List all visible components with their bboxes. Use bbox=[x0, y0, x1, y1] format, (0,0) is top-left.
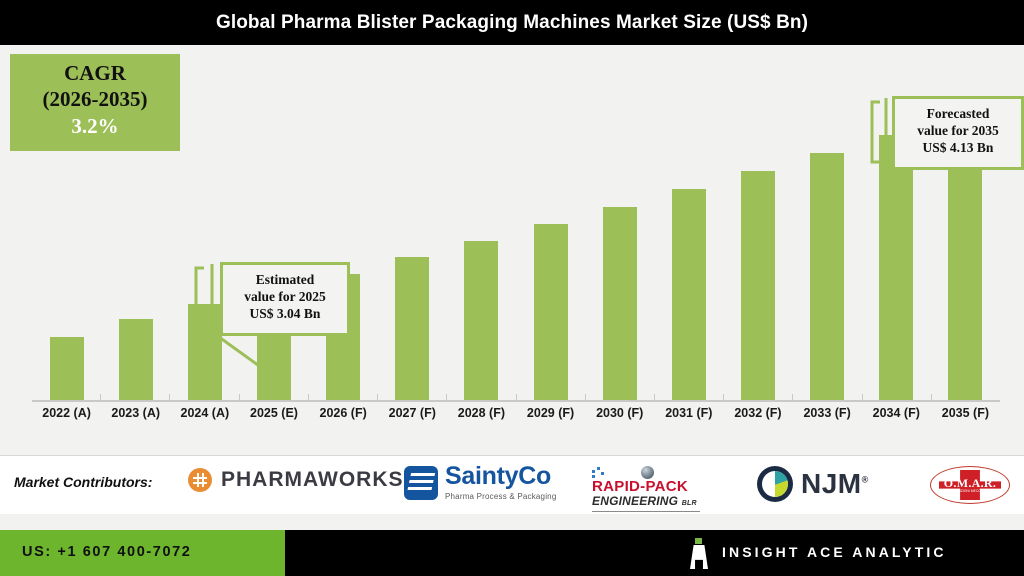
tick bbox=[377, 394, 446, 402]
bar-2023[interactable] bbox=[119, 319, 153, 400]
bar-slot bbox=[516, 54, 585, 400]
tick bbox=[862, 394, 931, 402]
bar-2034[interactable] bbox=[879, 135, 913, 400]
bar-slot bbox=[101, 54, 170, 400]
bar-slot bbox=[793, 54, 862, 400]
logo-omar: O.M.A.R. COSTRUZIONI MECCANICHE bbox=[930, 466, 1010, 504]
bar-2032[interactable] bbox=[741, 171, 775, 400]
callout-forecasted-line3: US$ 4.13 Bn bbox=[903, 139, 1013, 156]
bar-2028[interactable] bbox=[464, 241, 498, 400]
pharmaworks-grid-icon bbox=[188, 468, 212, 492]
x-axis-labels: 2022 (A)2023 (A)2024 (A)2025 (E)2026 (F)… bbox=[32, 406, 1000, 420]
infographic-page: Global Pharma Blister Packaging Machines… bbox=[0, 0, 1024, 576]
contributors-label: Market Contributors: bbox=[14, 474, 152, 490]
omar-subtitle: COSTRUZIONI MECCANICHE bbox=[931, 489, 1009, 493]
x-axis-label: 2031 (F) bbox=[654, 406, 723, 420]
bar-slot bbox=[239, 54, 308, 400]
callout-forecasted-2035: Forecasted value for 2035 US$ 4.13 Bn bbox=[892, 96, 1024, 170]
bar-2027[interactable] bbox=[395, 257, 429, 400]
rapidpack-wordmark: RAPID-PACK bbox=[592, 479, 688, 495]
x-axis-ticks bbox=[32, 394, 1000, 402]
title-bar: Global Pharma Blister Packaging Machines… bbox=[0, 0, 1024, 45]
x-axis-label: 2024 (A) bbox=[170, 406, 239, 420]
plot-area bbox=[32, 54, 1000, 400]
callout-forecasted-line1: Forecasted bbox=[903, 105, 1013, 122]
bar-2024[interactable] bbox=[188, 304, 222, 400]
tick bbox=[446, 394, 515, 402]
tick bbox=[931, 394, 1000, 402]
rapidpack-rule bbox=[592, 511, 700, 512]
bar-slot bbox=[32, 54, 101, 400]
bar-slot bbox=[585, 54, 654, 400]
pharmaworks-name: PHARMAWORKS bbox=[221, 468, 404, 491]
tick bbox=[100, 394, 169, 402]
saintyco-swirl-icon bbox=[404, 466, 438, 500]
x-axis-label: 2032 (F) bbox=[723, 406, 792, 420]
x-axis-label: 2022 (A) bbox=[32, 406, 101, 420]
callout-estimated-line2: value for 2025 bbox=[231, 288, 339, 305]
bar-2029[interactable] bbox=[534, 224, 568, 400]
bar-series bbox=[32, 54, 1000, 400]
bar-slot bbox=[654, 54, 723, 400]
callout-estimated-line3: US$ 3.04 Bn bbox=[231, 305, 339, 322]
rapidpack-dots-icon bbox=[592, 466, 605, 479]
rapidpack-subtitle: ENGINEERING BLR bbox=[592, 495, 697, 510]
njm-registered: ® bbox=[862, 475, 869, 485]
tick bbox=[585, 394, 654, 402]
x-axis-label: 2023 (A) bbox=[101, 406, 170, 420]
bar-2031[interactable] bbox=[672, 189, 706, 400]
callout-forecasted-line2: value for 2035 bbox=[903, 122, 1013, 139]
x-axis-label: 2033 (F) bbox=[793, 406, 862, 420]
tick bbox=[792, 394, 861, 402]
logo-saintyco: SaintyCo Pharma Process & Packaging bbox=[404, 464, 556, 501]
tick bbox=[239, 394, 308, 402]
insightace-logo-icon bbox=[688, 538, 710, 569]
saintyco-wordmark: SaintyCo bbox=[445, 464, 556, 489]
tick bbox=[654, 394, 723, 402]
market-contributors-strip: Market Contributors: PHARMAWORKS™ Sainty… bbox=[0, 455, 1024, 514]
chart-panel: CAGR (2026-2035) 3.2% 2022 (A)2023 (A)20… bbox=[8, 46, 1016, 454]
logo-pharmaworks: PHARMAWORKS™ bbox=[188, 468, 413, 492]
x-axis-label: 2029 (F) bbox=[516, 406, 585, 420]
tick bbox=[308, 394, 377, 402]
x-axis-label: 2028 (F) bbox=[447, 406, 516, 420]
bar-slot bbox=[378, 54, 447, 400]
brand-name: INSIGHT ACE ANALYTIC bbox=[722, 544, 947, 560]
pharmaworks-wordmark: PHARMAWORKS™ bbox=[221, 468, 413, 492]
bar-slot bbox=[723, 54, 792, 400]
x-axis-label: 2030 (F) bbox=[585, 406, 654, 420]
njm-wordmark: NJM® bbox=[801, 468, 869, 500]
callout-estimated-2025: Estimated value for 2025 US$ 3.04 Bn bbox=[220, 262, 350, 336]
footer-bar: US: +1 607 400-7072 INSIGHT ACE ANALYTIC bbox=[0, 530, 1024, 576]
omar-oval-icon: O.M.A.R. COSTRUZIONI MECCANICHE bbox=[930, 466, 1010, 504]
x-axis-label: 2035 (F) bbox=[931, 406, 1000, 420]
contact-phone[interactable]: US: +1 607 400-7072 bbox=[22, 544, 191, 560]
bar-2022[interactable] bbox=[50, 337, 84, 400]
logo-rapid-pack: RAPID-PACK ENGINEERING BLR bbox=[592, 466, 700, 512]
saintyco-tagline: Pharma Process & Packaging bbox=[445, 492, 556, 501]
x-axis-label: 2027 (F) bbox=[378, 406, 447, 420]
tick bbox=[169, 394, 238, 402]
bar-2030[interactable] bbox=[603, 207, 637, 400]
x-axis-label: 2025 (E) bbox=[239, 406, 308, 420]
x-axis-label: 2034 (F) bbox=[862, 406, 931, 420]
tick bbox=[32, 394, 100, 402]
tick bbox=[516, 394, 585, 402]
logo-njm: NJM® bbox=[757, 466, 869, 502]
bar-2033[interactable] bbox=[810, 153, 844, 400]
callout-estimated-line1: Estimated bbox=[231, 271, 339, 288]
bar-slot bbox=[309, 54, 378, 400]
bar-slot bbox=[170, 54, 239, 400]
njm-circle-icon bbox=[757, 466, 793, 502]
tick bbox=[723, 394, 792, 402]
page-title: Global Pharma Blister Packaging Machines… bbox=[0, 0, 1024, 45]
bar-slot bbox=[447, 54, 516, 400]
x-axis-label: 2026 (F) bbox=[309, 406, 378, 420]
